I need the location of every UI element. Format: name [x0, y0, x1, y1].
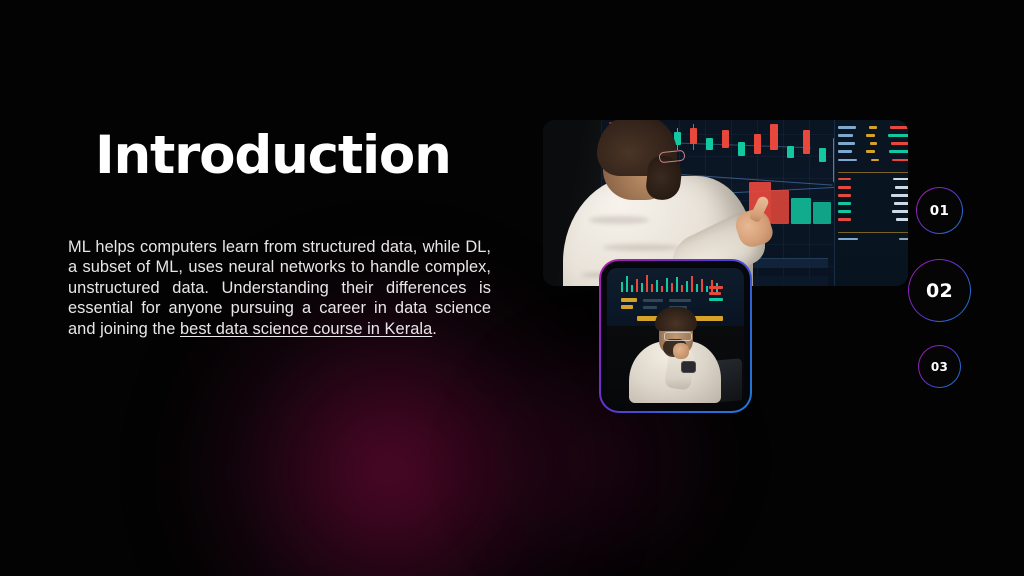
data-row — [838, 156, 908, 163]
data-row — [838, 192, 908, 199]
analyst-laptop-photo-frame — [599, 259, 752, 413]
inset-photo-content — [607, 268, 744, 403]
course-link[interactable]: best data science course in Kerala — [180, 320, 432, 338]
data-row — [838, 120, 908, 123]
subject-glasses — [658, 150, 685, 164]
data-row — [838, 236, 908, 243]
candlestick — [787, 146, 794, 158]
step-indicator-group: 01 02 03 — [908, 180, 972, 400]
inset-subject-watch — [681, 361, 696, 373]
step-indicator-02[interactable]: 02 — [908, 259, 971, 322]
body-text-after-link: . — [432, 320, 437, 338]
panel-heading — [838, 227, 908, 233]
data-row — [838, 140, 908, 147]
candlestick — [770, 124, 778, 150]
step-indicator-01-label: 01 — [930, 203, 949, 219]
step-indicator-03[interactable]: 03 — [918, 345, 961, 388]
step-indicator-01[interactable]: 01 — [916, 187, 963, 234]
presentation-slide: Introduction ML helps computers learn fr… — [0, 0, 1024, 576]
candlestick-cluster — [813, 202, 831, 224]
text-column: Introduction ML helps computers learn fr… — [68, 128, 498, 340]
data-row — [838, 216, 908, 223]
inset-subject-glasses — [664, 332, 692, 341]
step-indicator-02-label: 02 — [926, 280, 953, 302]
data-row — [838, 208, 908, 215]
data-row — [838, 124, 908, 131]
data-row — [838, 176, 908, 183]
candlestick-cluster — [771, 190, 789, 224]
step-indicator-03-label: 03 — [931, 360, 948, 374]
inset-subject-hand — [673, 343, 689, 359]
candlestick — [803, 130, 810, 154]
candlestick-cluster — [791, 198, 811, 224]
data-row — [838, 148, 908, 155]
inset-subject-hair — [655, 307, 697, 331]
panel-heading — [838, 167, 908, 173]
body-paragraph: ML helps computers learn from structured… — [68, 237, 491, 340]
data-row — [838, 200, 908, 207]
analyst-laptop-photo — [601, 261, 750, 411]
market-data-panel — [834, 120, 908, 286]
data-row — [838, 184, 908, 191]
page-title: Introduction — [95, 128, 498, 184]
candlestick — [819, 148, 826, 162]
data-row — [838, 132, 908, 139]
